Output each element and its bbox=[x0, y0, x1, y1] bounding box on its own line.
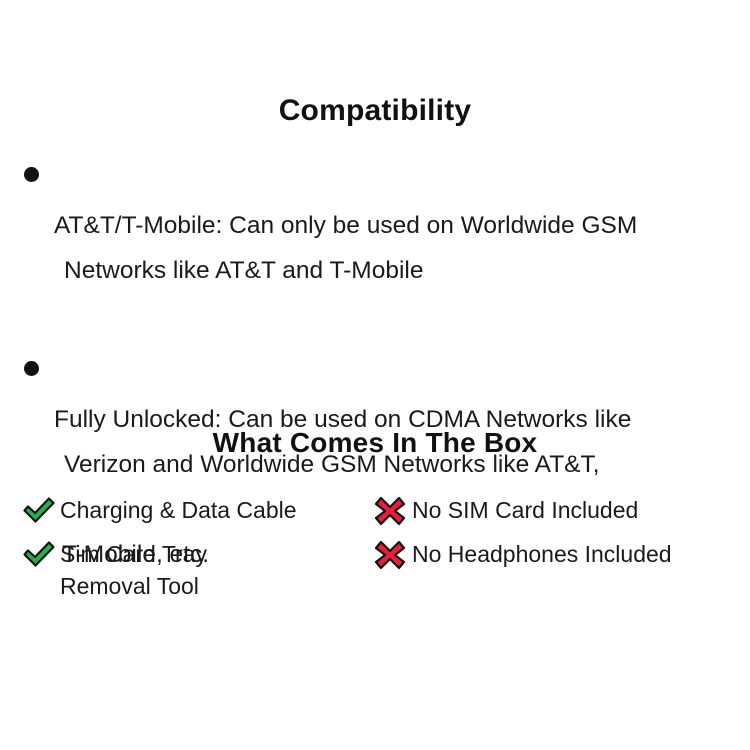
item-label: Sim Card Tray Removal Tool bbox=[60, 538, 372, 602]
list-item: AT&T/T-Mobile: Can only be used on World… bbox=[24, 158, 736, 338]
item-label: No Headphones Included bbox=[412, 538, 750, 570]
box-contents-included-column: Charging & Data Cable Sim Card Tray Remo… bbox=[22, 494, 372, 612]
box-contents-heading: What Comes In The Box bbox=[0, 427, 750, 459]
green-check-icon bbox=[22, 494, 60, 528]
bullet-line-2: Networks like AT&T and T-Mobile bbox=[54, 248, 736, 293]
item-label: No SIM Card Included bbox=[412, 494, 750, 526]
item-label: Charging & Data Cable bbox=[60, 494, 372, 526]
bullet-line-1: AT&T/T-Mobile: Can only be used on World… bbox=[54, 212, 637, 239]
compatibility-heading: Compatibility bbox=[0, 94, 750, 128]
green-check-icon bbox=[22, 538, 60, 572]
red-cross-icon bbox=[374, 538, 412, 572]
filled-circle-bullet-icon bbox=[24, 352, 54, 376]
list-item: No Headphones Included bbox=[374, 538, 750, 572]
product-info-graphic: Compatibility AT&T/T-Mobile: Can only be… bbox=[0, 0, 750, 750]
list-item: No SIM Card Included bbox=[374, 494, 750, 528]
bullet-text-block: AT&T/T-Mobile: Can only be used on World… bbox=[54, 158, 736, 338]
filled-circle-bullet-icon bbox=[24, 158, 54, 182]
list-item: Charging & Data Cable bbox=[22, 494, 372, 528]
box-contents-excluded-column: No SIM Card Included No Headphones Inclu… bbox=[374, 494, 750, 582]
list-item: Sim Card Tray Removal Tool bbox=[22, 538, 372, 602]
red-cross-icon bbox=[374, 494, 412, 528]
